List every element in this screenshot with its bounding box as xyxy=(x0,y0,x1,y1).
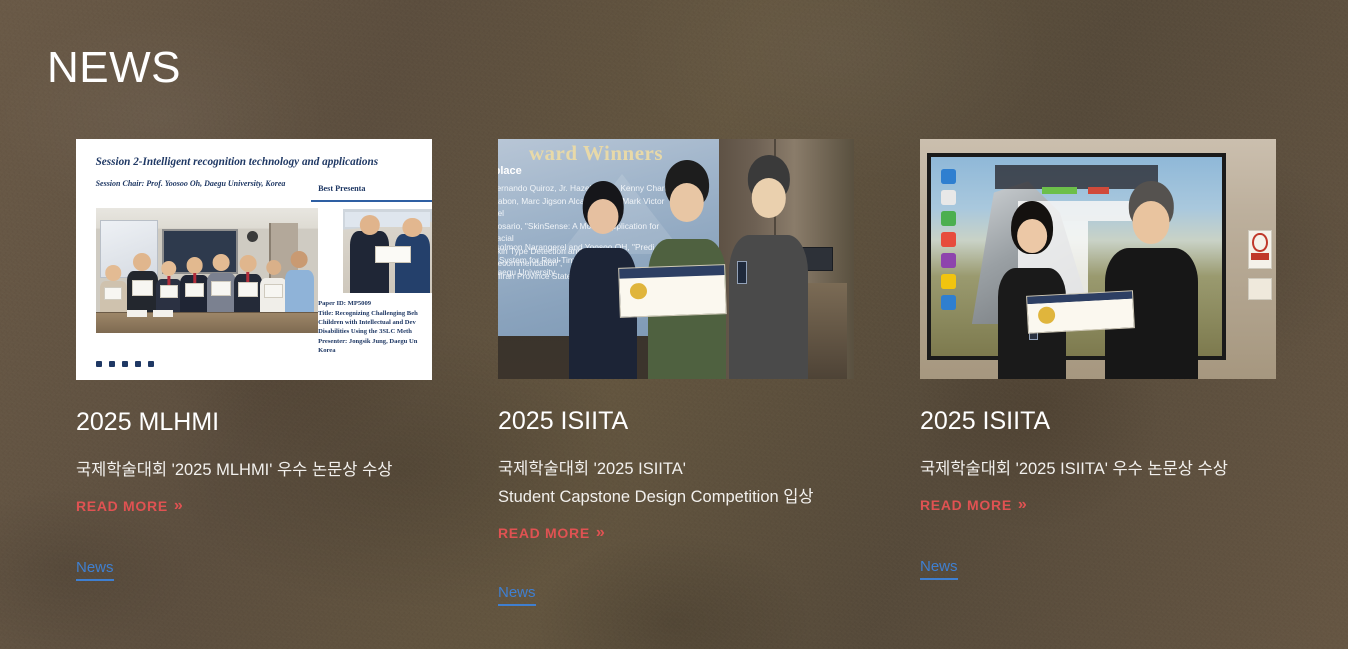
category-tag-news[interactable]: News xyxy=(920,558,958,580)
slide-best-presentation-heading: Best Presenta xyxy=(318,184,365,193)
news-card[interactable]: ward Winners place Fernando Quiroz, Jr. … xyxy=(498,139,854,606)
slide-title-text: Session 2-Intelligent recognition techno… xyxy=(96,156,379,168)
head-shape xyxy=(213,254,230,271)
read-more-link[interactable]: READ MORE » xyxy=(920,497,1025,513)
sign-label-bar xyxy=(1251,253,1270,260)
head-shape xyxy=(403,218,422,237)
news-card-tag-row: News xyxy=(920,558,1276,580)
desktop-icon xyxy=(941,232,956,247)
person-figure xyxy=(180,257,209,313)
projector-title-text: ward Winners xyxy=(529,141,663,166)
read-more-label: READ MORE xyxy=(498,525,590,541)
description-line: Student Capstone Design Competition 입상 xyxy=(498,483,854,511)
certificate-shape xyxy=(185,283,205,298)
person-figure xyxy=(234,255,263,313)
double-chevron-right-icon: » xyxy=(174,499,181,513)
window-toolbar-shape xyxy=(995,165,1158,189)
seal-shape xyxy=(1038,306,1056,324)
badge-shape xyxy=(737,261,746,284)
person-figure xyxy=(207,254,236,313)
no-entry-sign xyxy=(1248,230,1273,268)
news-card-description: 국제학술대회 '2025 ISIITA' 우수 논문상 수상 xyxy=(920,455,1276,483)
bullet-dot xyxy=(96,361,102,367)
head-shape xyxy=(106,265,121,280)
certificate-shape xyxy=(238,282,258,297)
bullet-dot xyxy=(122,361,128,367)
person-figure xyxy=(156,261,183,313)
category-tag-news[interactable]: News xyxy=(76,559,114,581)
award-ceremony-photo: ward Winners place Fernando Quiroz, Jr. … xyxy=(498,139,854,379)
head-shape xyxy=(240,255,257,272)
category-tag-news[interactable]: News xyxy=(498,584,536,606)
news-card[interactable]: Session 2-Intelligent recognition techno… xyxy=(76,139,432,606)
slide-divider xyxy=(311,200,432,202)
person-figure xyxy=(100,265,127,313)
certificate-shape xyxy=(1026,290,1135,334)
slide-subtitle-text: Session Chair: Prof. Yoosoo Oh, Daegu Un… xyxy=(96,179,286,188)
head-shape xyxy=(587,199,618,234)
bullet-dot xyxy=(135,361,141,367)
read-more-label: READ MORE xyxy=(76,498,168,514)
news-card-title: 2025 ISIITA xyxy=(920,406,1276,436)
slide-bullet-dots xyxy=(96,361,154,367)
paper-shape xyxy=(153,310,173,316)
desktop-icon xyxy=(941,274,956,289)
seal-shape xyxy=(630,283,647,300)
news-card-image[interactable] xyxy=(920,139,1276,379)
conference-slide-image: Session 2-Intelligent recognition techno… xyxy=(76,139,432,380)
double-chevron-right-icon: » xyxy=(1018,498,1025,512)
head-shape xyxy=(751,178,785,217)
desktop-icon xyxy=(941,253,956,268)
certificate-shape xyxy=(375,246,411,263)
description-line: 국제학술대회 '2025 ISIITA' xyxy=(498,455,854,483)
ceiling-speaker-shape xyxy=(247,231,258,242)
bullet-dot xyxy=(148,361,154,367)
desktop-icon-column xyxy=(935,169,961,340)
news-card-description: 국제학술대회 '2025 MLHMI' 우수 논문상 수상 xyxy=(76,456,432,484)
paper-shape xyxy=(127,310,147,316)
head-shape xyxy=(266,260,281,275)
head-shape xyxy=(360,215,380,235)
news-card-title: 2025 ISIITA xyxy=(498,406,854,436)
head-shape xyxy=(1133,201,1170,244)
read-more-link[interactable]: READ MORE » xyxy=(498,525,603,541)
slide-group-photo xyxy=(96,208,319,333)
head-shape xyxy=(133,253,151,271)
head-shape xyxy=(1017,219,1047,253)
news-card[interactable]: 2025 ISIITA 국제학술대회 '2025 ISIITA' 우수 논문상 … xyxy=(920,139,1276,606)
certificate-shape xyxy=(618,264,726,318)
news-card-tag-row: News xyxy=(76,559,432,581)
desktop-icon xyxy=(941,211,956,226)
group-of-people xyxy=(96,243,319,313)
certificate-shape xyxy=(211,281,231,296)
certificate-shape xyxy=(160,285,178,298)
slide-caption-text: Paper ID: MP5009 Title: Recognizing Chal… xyxy=(318,299,432,355)
highlight-bar-green xyxy=(1042,187,1077,194)
desktop-icon xyxy=(941,295,956,310)
read-more-link[interactable]: READ MORE » xyxy=(76,498,181,514)
person-figure xyxy=(395,234,431,293)
bullet-dot xyxy=(109,361,115,367)
news-card-title: 2025 MLHMI xyxy=(76,407,432,437)
person-figure-right xyxy=(729,168,807,379)
news-card-list: Session 2-Intelligent recognition techno… xyxy=(76,139,1276,606)
projector-subtitle-text: place xyxy=(498,165,522,177)
desktop-icon xyxy=(941,190,956,205)
prohibition-icon xyxy=(1252,233,1267,252)
person-figure xyxy=(260,260,287,313)
wall-notice-sign xyxy=(1248,278,1273,300)
page-title: NEWS xyxy=(47,44,181,92)
certificate-shape xyxy=(264,284,282,298)
news-card-description: 국제학술대회 '2025 ISIITA' Student Capstone De… xyxy=(498,455,854,511)
news-card-image[interactable]: ward Winners place Fernando Quiroz, Jr. … xyxy=(498,139,854,379)
description-line: 국제학술대회 '2025 MLHMI' 우수 논문상 수상 xyxy=(76,456,432,484)
desktop-icon xyxy=(941,169,956,184)
description-line: 국제학술대회 '2025 ISIITA' 우수 논문상 수상 xyxy=(920,455,1276,483)
body-shape xyxy=(285,270,314,313)
news-card-tag-row: News xyxy=(498,584,854,606)
certificate-shape xyxy=(132,280,153,296)
head-shape xyxy=(161,261,176,276)
person-figure xyxy=(285,251,314,313)
certificate-shape xyxy=(104,287,122,299)
head-shape xyxy=(669,183,703,222)
head-shape xyxy=(186,257,203,274)
read-more-label: READ MORE xyxy=(920,497,1012,513)
person-figure xyxy=(127,253,158,313)
body-shape xyxy=(729,235,807,379)
double-chevron-right-icon: » xyxy=(596,526,603,540)
person-figure-right xyxy=(1105,192,1198,379)
news-card-image[interactable]: Session 2-Intelligent recognition techno… xyxy=(76,139,432,380)
slide-award-photo xyxy=(343,209,432,293)
award-ceremony-screen-photo xyxy=(920,139,1276,379)
head-shape xyxy=(291,251,308,268)
